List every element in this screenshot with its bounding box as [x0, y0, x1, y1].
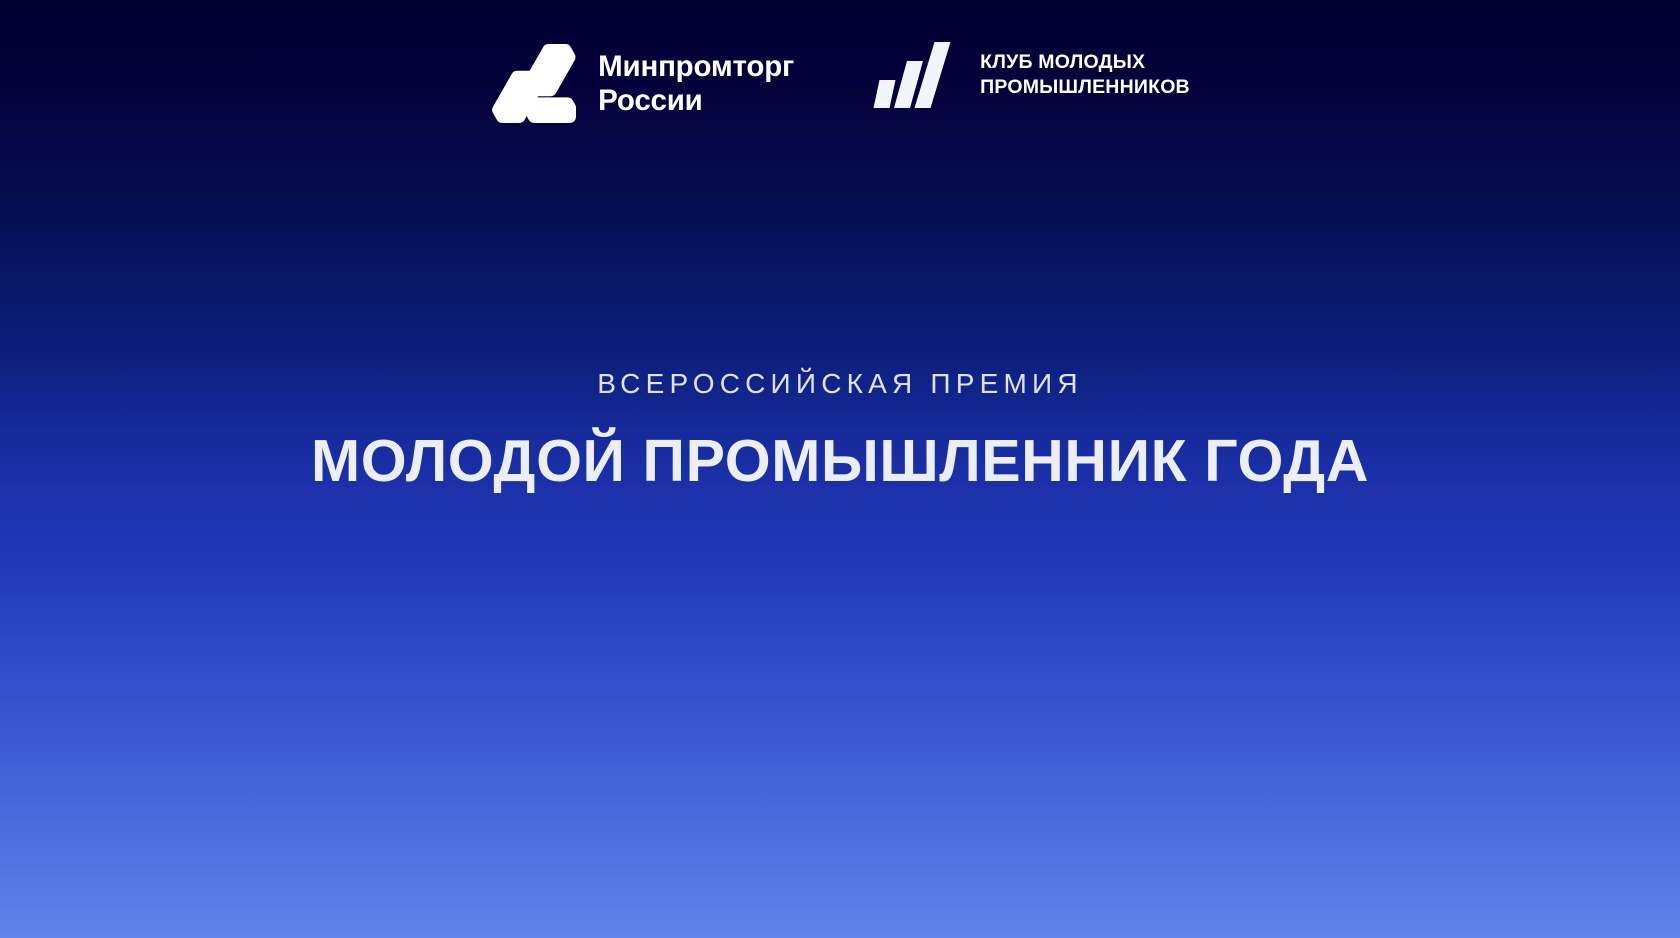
- minpromtorg-logo-line-2: России: [598, 84, 794, 119]
- minpromtorg-logo: Минпромторг России: [490, 42, 794, 126]
- club-of-young-industrialists-logo-text: КЛУБ МОЛОДЫХ ПРОМЫШЛЕННИКОВ: [980, 50, 1190, 99]
- minpromtorg-triangle-logo-icon: [490, 42, 576, 126]
- minpromtorg-logo-text: Минпромторг России: [598, 50, 794, 119]
- minpromtorg-logo-line-1: Минпромторг: [598, 50, 794, 85]
- ascending-bars-logo-icon: [866, 42, 958, 108]
- club-logo-line-2: ПРОМЫШЛЕННИКОВ: [980, 75, 1190, 100]
- club-logo-line-1: КЛУБ МОЛОДЫХ: [980, 50, 1190, 75]
- headline-block: ВСЕРОССИЙСКАЯ ПРЕМИЯ МОЛОДОЙ ПРОМЫШЛЕННИ…: [0, 370, 1680, 491]
- award-eyebrow: ВСЕРОССИЙСКАЯ ПРЕМИЯ: [0, 370, 1680, 398]
- presentation-slide: Минпромторг России КЛУБ МОЛОДЫХ ПРОМЫШЛЕ…: [0, 0, 1680, 938]
- award-title: МОЛОДОЙ ПРОМЫШЛЕННИК ГОДА: [0, 432, 1680, 491]
- club-of-young-industrialists-logo: КЛУБ МОЛОДЫХ ПРОМЫШЛЕННИКОВ: [866, 42, 1190, 108]
- logo-bar: Минпромторг России КЛУБ МОЛОДЫХ ПРОМЫШЛЕ…: [0, 42, 1680, 126]
